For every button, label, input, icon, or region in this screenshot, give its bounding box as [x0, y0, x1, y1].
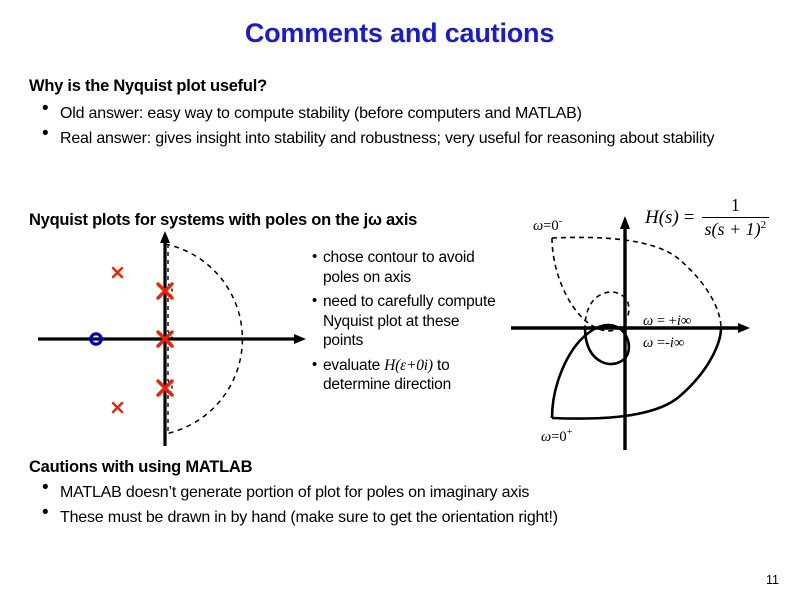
pole-zero-contour-diagram: [30, 228, 315, 450]
omega-eq: = +: [653, 313, 677, 329]
list-item: These must be drawn in by hand (make sur…: [38, 507, 758, 528]
infinity-symbol: ∞: [681, 313, 691, 329]
omega-sign: -: [559, 216, 562, 227]
bullet-list-nyquist-notes: chose contour to avoid poles on axis nee…: [312, 248, 502, 400]
page-title: Comments and cautions: [0, 18, 799, 49]
list-item: Old answer: easy way to compute stabilit…: [38, 103, 758, 124]
omega-sign: +: [567, 427, 573, 438]
pole-marker-upper-left: [113, 268, 122, 277]
pole-marker-lower-left: [113, 403, 122, 412]
heading-why-nyquist-useful: Why is the Nyquist plot useful?: [29, 77, 267, 96]
page-number: 11: [766, 573, 779, 587]
list-item-text-math: H(ε+0i): [384, 357, 433, 374]
list-item: MATLAB doesn’t generate portion of plot …: [38, 482, 758, 503]
slide-canvas: Comments and cautions Why is the Nyquist…: [0, 0, 799, 599]
bullet-list-cautions: MATLAB doesn’t generate portion of plot …: [38, 482, 758, 532]
list-item: Real answer: gives insight into stabilit…: [38, 128, 758, 149]
label-omega-minus-i-infinity: ω =-i∞: [643, 335, 684, 352]
infinity-symbol: ∞: [674, 335, 684, 351]
heading-cautions-matlab: Cautions with using MATLAB: [29, 458, 252, 477]
pole-zero-contour-svg: [30, 228, 315, 450]
omega-eq: =0: [543, 218, 558, 234]
list-item: chose contour to avoid poles on axis: [312, 248, 502, 287]
list-item-text: need to carefully compute Nyquist plot a…: [323, 293, 496, 349]
bullet-list-why: Old answer: easy way to compute stabilit…: [38, 103, 758, 153]
list-item: evaluate H(ε+0i) to determine direction: [312, 356, 502, 395]
list-item: need to carefully compute Nyquist plot a…: [312, 292, 502, 351]
label-omega-plus-i-infinity: ω = +i∞: [643, 313, 691, 330]
omega-symbol: ω: [533, 218, 543, 234]
omega-positive-branch-solid: [552, 325, 721, 419]
omega-eq: =0: [551, 429, 566, 445]
list-item-text: chose contour to avoid poles on axis: [323, 249, 475, 286]
label-omega-0-plus: ω=0+: [541, 427, 572, 446]
omega-symbol: ω: [541, 429, 551, 445]
omega-symbol: ω: [643, 335, 653, 351]
nyquist-real-axis: [511, 323, 750, 333]
omega-negative-branch-dashed: [552, 237, 721, 331]
omega-symbol: ω: [643, 313, 653, 329]
omega-eq: =-: [653, 335, 670, 351]
list-item-text-pre: evaluate: [323, 357, 384, 374]
label-omega-0-minus: ω=0-: [533, 216, 562, 235]
